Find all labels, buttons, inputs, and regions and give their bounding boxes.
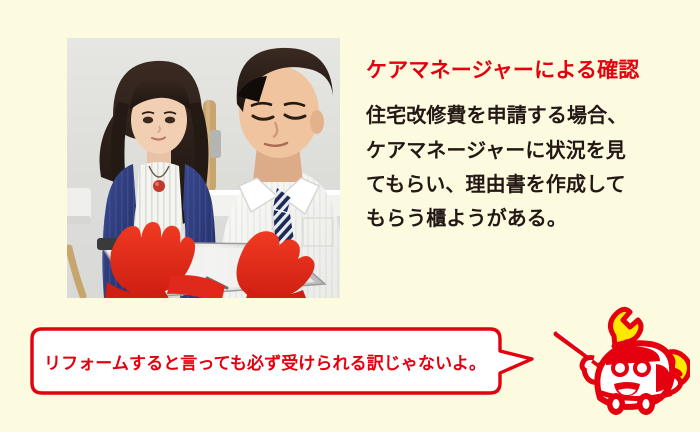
page-root: ケアマネージャーによる確認 住宅改修費を申請する場合、 ケアマネージャーに状況を… bbox=[0, 0, 700, 432]
mascot-car-character bbox=[548, 306, 690, 418]
speech-bubble-text: リフォームすると言っても必ず受けられる訳じゃないよ。 bbox=[44, 325, 504, 397]
pointer-stick bbox=[556, 332, 600, 366]
photo-illustration bbox=[67, 38, 340, 298]
article-photo bbox=[67, 38, 340, 298]
body-line-2: ケアマネージャーに状況を見 bbox=[366, 134, 686, 168]
page-title: ケアマネージャーによる確認 bbox=[366, 58, 686, 83]
body-line-4: もらう櫃ようがある。 bbox=[366, 202, 686, 236]
article-body: 住宅改修費を申請する場合、 ケアマネージャーに状況を見 てもらい、理由書を作成し… bbox=[366, 99, 686, 237]
speech-bubble: リフォームすると言っても必ず受けられる訳じゃないよ。 bbox=[28, 325, 543, 397]
mascot-illustration bbox=[548, 306, 690, 418]
car-body bbox=[582, 342, 681, 407]
article-text-column: ケアマネージャーによる確認 住宅改修費を申請する場合、 ケアマネージャーに状況を… bbox=[366, 58, 686, 237]
body-line-1: 住宅改修費を申請する場合、 bbox=[366, 99, 686, 133]
body-line-3: てもらい、理由書を作成して bbox=[366, 168, 686, 202]
